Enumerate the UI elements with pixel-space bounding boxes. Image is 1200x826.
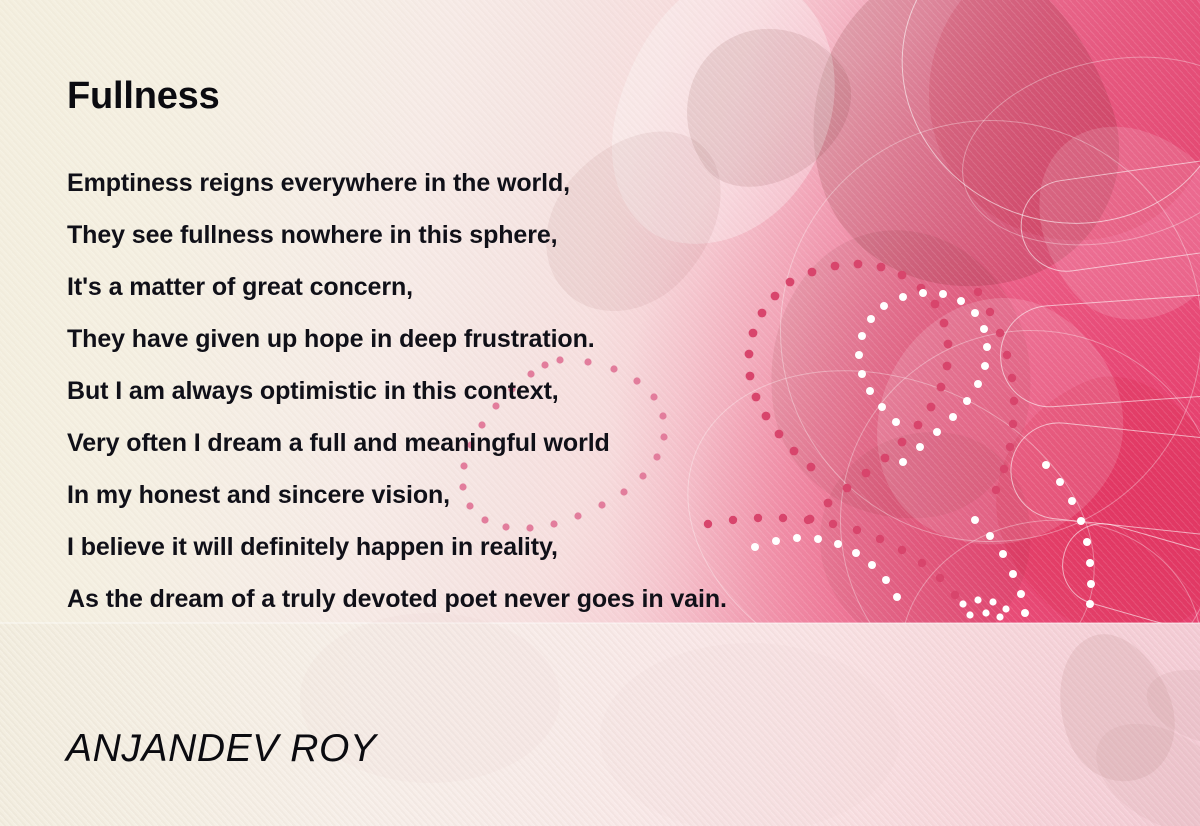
poem-card: .dp { fill: #d8456c; } .dpl { fill: #e27… <box>0 0 1200 826</box>
poem-line: But I am always optimistic in this conte… <box>67 365 1067 417</box>
poem-line: In my honest and sincere vision, <box>67 469 1067 521</box>
poem-line: They have given up hope in deep frustrat… <box>67 313 1067 365</box>
poem-line: It's a matter of great concern, <box>67 261 1067 313</box>
poem-line: As the dream of a truly devoted poet nev… <box>67 573 1067 625</box>
poem-author: ANJANDEV ROY <box>66 727 377 771</box>
poem-line: Emptiness reigns everywhere in the world… <box>67 157 1067 209</box>
poem-line: I believe it will definitely happen in r… <box>67 521 1067 573</box>
poem-content: Fullness Emptiness reigns everywhere in … <box>0 0 1200 826</box>
page-title: Fullness <box>67 75 220 118</box>
poem-line: Very often I dream a full and meaningful… <box>67 417 1067 469</box>
poem-body: Emptiness reigns everywhere in the world… <box>67 157 1067 625</box>
poem-line: They see fullness nowhere in this sphere… <box>67 209 1067 261</box>
